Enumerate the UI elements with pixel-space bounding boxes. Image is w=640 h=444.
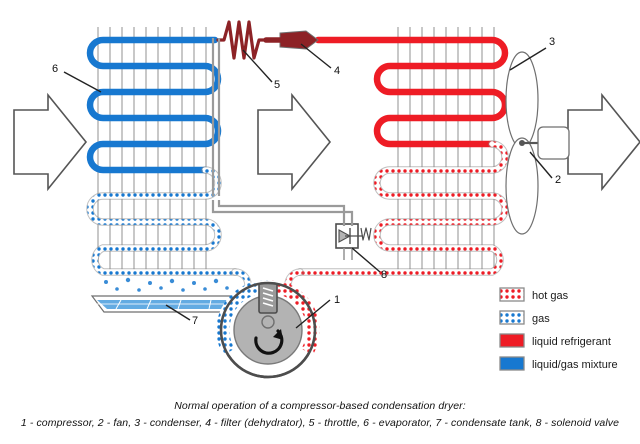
legend-label-liquid-refrigerant: liquid refrigerant	[532, 336, 611, 348]
legend-item-gas: gas	[500, 311, 550, 325]
legend-item-hot-gas: hot gas	[500, 288, 569, 302]
middle-air-arrow	[258, 95, 330, 189]
legend-item-liquid-refrigerant: liquid refrigerant	[500, 334, 611, 348]
callout-numbers: 6 5 4 3 2 1 8 7	[52, 36, 561, 327]
legend-label-hot-gas: hot gas	[532, 290, 569, 302]
callout-3: 3	[549, 36, 555, 48]
condensate-droplets	[104, 278, 229, 292]
legend-label-gas: gas	[532, 313, 550, 325]
condenser-coil-hot-gas-solid	[318, 40, 505, 144]
fan	[506, 52, 569, 234]
callout-1: 1	[334, 294, 340, 306]
condenser-coil-hot-gas-dotted	[300, 144, 505, 272]
evaporator-coil-liquid-gas	[90, 40, 218, 170]
callout-6: 6	[52, 63, 58, 75]
callout-5: 5	[274, 79, 280, 91]
callout-4: 4	[334, 65, 340, 77]
caption-line-1: Normal operation of a compressor-based c…	[0, 400, 640, 412]
legend: hot gas gas liquid refrigerant liquid/ga…	[500, 288, 618, 371]
filter-dehydrator	[266, 31, 318, 49]
legend-label-liquid-gas-mixture: liquid/gas mixture	[532, 359, 618, 371]
condenser-coil-hot-gas-dotted-casing	[300, 144, 505, 272]
callout-leaders	[64, 44, 552, 328]
solenoid-valve	[336, 224, 371, 260]
inlet-air-arrow	[14, 95, 86, 189]
caption-line-2: 1 - compressor, 2 - fan, 3 - condenser, …	[0, 417, 640, 429]
callout-8: 8	[381, 269, 387, 281]
outlet-air-arrow	[568, 95, 640, 189]
legend-item-liquid-gas-mixture: liquid/gas mixture	[500, 357, 618, 371]
callout-7: 7	[192, 315, 198, 327]
throttle	[218, 22, 266, 58]
callout-2: 2	[555, 174, 561, 186]
condensation-dryer-diagram: 6 5 4 3 2 1 8 7 hot gas gas liquid refri…	[0, 0, 640, 444]
diagram-canvas: 6 5 4 3 2 1 8 7 hot gas gas liquid refri…	[0, 0, 640, 444]
compressor	[219, 283, 315, 377]
